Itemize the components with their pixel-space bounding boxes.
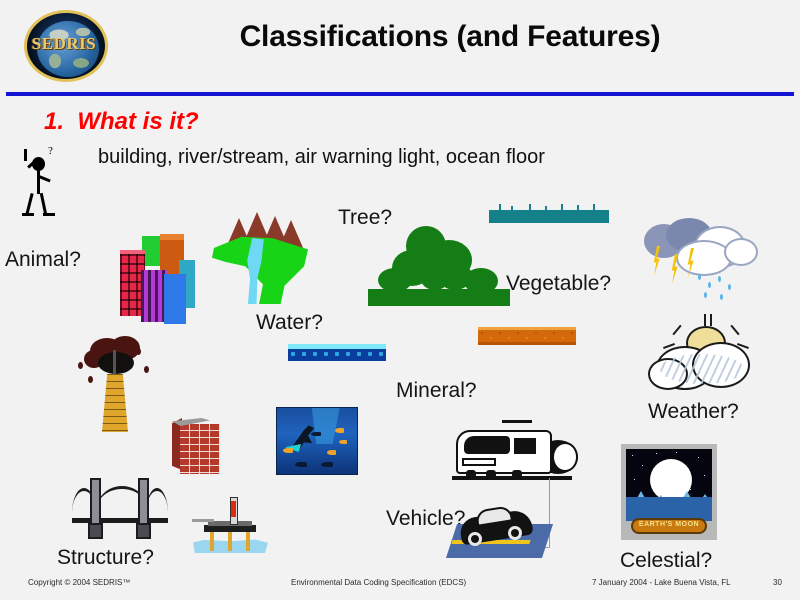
river-mountains-icon — [212, 212, 310, 304]
label-structure: Structure? — [57, 546, 154, 570]
footer: Copyright © 2004 SEDRIS™ Environmental D… — [0, 578, 800, 594]
label-vegetable: Vegetable? — [506, 272, 611, 296]
question-mark-icon: ? — [48, 145, 53, 157]
brick-wall-icon — [172, 418, 220, 474]
question-heading: 1. What is it? — [44, 108, 199, 136]
footer-spec-name: Environmental Data Coding Specification … — [291, 578, 466, 587]
train-icon — [452, 418, 582, 490]
footer-page-number: 30 — [773, 578, 782, 587]
label-water: Water? — [256, 311, 323, 335]
footer-copyright: Copyright © 2004 SEDRIS™ — [28, 578, 130, 587]
seagrass-band-icon — [489, 205, 609, 223]
moon-caption-text: EARTH'S MOON — [633, 521, 705, 528]
page-title: Classifications (and Features) — [130, 20, 770, 54]
underwater-diver-icon — [276, 407, 358, 475]
water-band-icon — [288, 344, 386, 361]
storm-cloud-icon — [640, 218, 780, 310]
footer-event: 7 January 2004 - Lake Buena Vista, FL — [592, 578, 731, 587]
label-animal: Animal? — [5, 248, 81, 272]
logo-wordmark: SEDRIS — [16, 34, 112, 54]
thinking-person-icon: ? — [18, 145, 62, 220]
soil-band-icon — [478, 327, 576, 345]
sedris-logo: SEDRIS — [16, 8, 112, 84]
label-mineral: Mineral? — [396, 379, 477, 403]
moon-caption-banner: EARTH'S MOON — [631, 518, 707, 534]
suspension-bridge-icon — [72, 478, 168, 540]
oil-platform-icon — [190, 495, 268, 557]
train-car-connector — [549, 478, 550, 548]
sun-behind-cloud-icon — [646, 322, 766, 402]
slide: SEDRIS Classifications (and Features) 1.… — [0, 0, 800, 600]
moon-photo-icon: EARTH'S MOON — [621, 444, 717, 540]
city-buildings-icon — [116, 232, 200, 328]
oil-derrick-icon — [70, 336, 160, 436]
tree-shrubs-icon — [368, 224, 510, 306]
title-divider — [6, 92, 794, 96]
examples-text: building, river/stream, air warning ligh… — [98, 146, 545, 169]
label-celestial: Celestial? — [620, 549, 712, 573]
car-icon — [446, 510, 542, 558]
label-weather: Weather? — [648, 400, 739, 424]
